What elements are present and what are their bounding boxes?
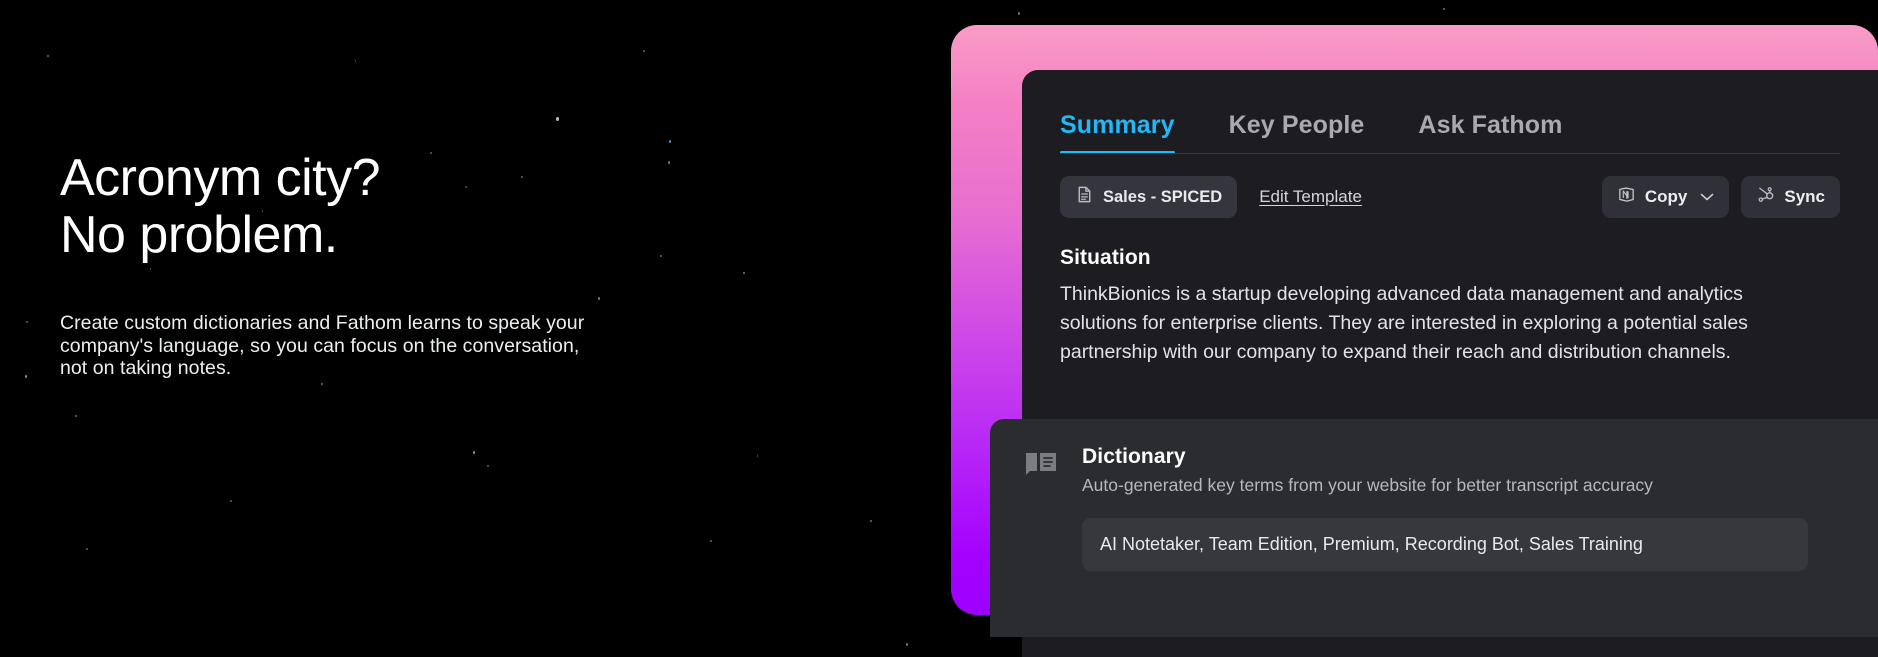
dictionary-terms-input[interactable] [1082,518,1808,571]
sync-button[interactable]: Sync [1741,176,1840,218]
open-book-icon [1024,445,1058,637]
tab-summary[interactable]: Summary [1060,111,1175,154]
page-title: Acronym city? No problem. [60,150,760,264]
dictionary-description: Auto-generated key terms from your websi… [1082,475,1838,496]
template-selector-label: Sales - SPICED [1103,188,1222,207]
notion-icon [1617,185,1636,209]
star-dot [321,383,323,385]
star-dot [906,643,908,646]
star-dot [47,55,49,57]
copy-button-label: Copy [1645,187,1688,207]
sync-button-label: Sync [1784,187,1825,207]
star-dot [1018,12,1020,15]
document-icon [1075,185,1094,209]
star-dot [643,50,645,52]
tab-bar: Summary Key People Ask Fathom [1060,92,1840,154]
edit-template-link[interactable]: Edit Template [1259,187,1362,207]
star-dot [75,415,77,417]
star-dot [26,321,28,323]
template-selector-chip[interactable]: Sales - SPICED [1060,176,1237,218]
star-dot [25,375,27,378]
star-dot [757,455,758,457]
tab-ask-fathom-label: Ask Fathom [1418,111,1562,139]
star-dot [1443,8,1445,10]
star-dot [870,520,872,522]
star-dot [473,451,475,454]
star-dot [669,140,671,143]
tab-key-people[interactable]: Key People [1229,111,1365,154]
tab-bar-divider [1060,153,1840,155]
dictionary-card: Dictionary Auto-generated key terms from… [990,419,1878,637]
copy-button[interactable]: Copy [1602,176,1730,218]
tab-summary-label: Summary [1060,111,1175,139]
dictionary-title: Dictionary [1082,445,1838,469]
summary-toolbar: Sales - SPICED Edit Template Copy [1060,178,1840,216]
hubspot-icon [1756,185,1775,209]
hero-copy-block: Acronym city? No problem. Create custom … [60,150,760,380]
tab-key-people-label: Key People [1229,111,1365,139]
star-dot [230,500,232,502]
situation-section-body: ThinkBionics is a startup developing adv… [1060,280,1820,367]
chevron-down-icon [1700,187,1714,207]
star-dot [710,540,712,542]
situation-section-title: Situation [1060,246,1840,270]
star-dot [355,60,356,62]
star-dot [556,117,559,121]
hero-subtext: Create custom dictionaries and Fathom le… [60,312,760,380]
tab-ask-fathom[interactable]: Ask Fathom [1418,111,1562,154]
star-dot [86,548,88,550]
star-dot [487,465,489,467]
